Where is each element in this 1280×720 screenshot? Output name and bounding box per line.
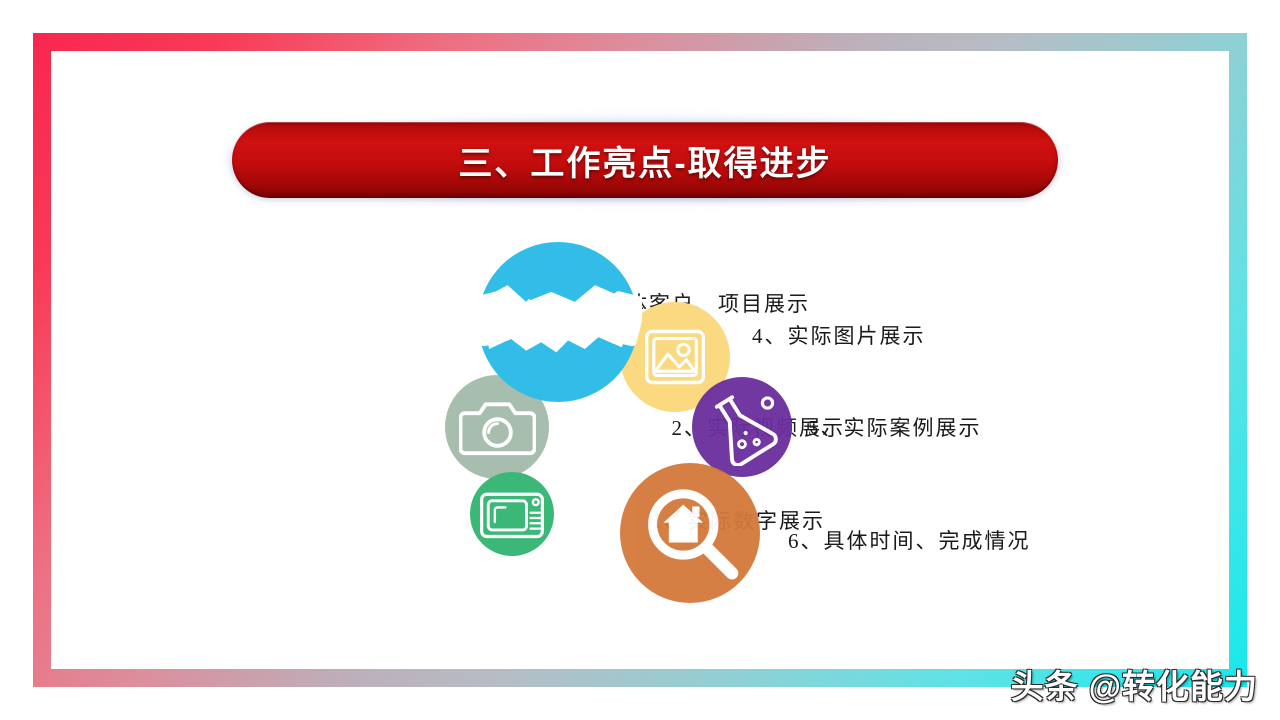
handshake-icon	[474, 270, 642, 374]
slide-canvas: 三、工作亮点-取得进步	[0, 0, 1280, 720]
bubble-house-search[interactable]	[620, 463, 760, 603]
label-4: 4、实际图片展示	[752, 320, 926, 350]
title-pill: 三、工作亮点-取得进步	[232, 122, 1058, 198]
flask-icon	[703, 388, 781, 466]
camera-icon	[459, 395, 536, 458]
bubble-handshake[interactable]	[478, 242, 638, 402]
page-title: 三、工作亮点-取得进步	[458, 136, 831, 185]
house-search-icon	[640, 483, 741, 584]
television-icon	[479, 487, 545, 541]
label-6: 6、具体时间、完成情况	[788, 525, 1031, 555]
picture-icon	[641, 323, 709, 391]
title-banner: 三、工作亮点-取得进步	[232, 122, 1058, 198]
bubble-television[interactable]	[470, 472, 554, 556]
label-5: 5、实际案例展示	[808, 412, 982, 442]
watermark: 头条 @转化能力	[1011, 660, 1258, 708]
bubble-flask[interactable]	[692, 377, 792, 477]
